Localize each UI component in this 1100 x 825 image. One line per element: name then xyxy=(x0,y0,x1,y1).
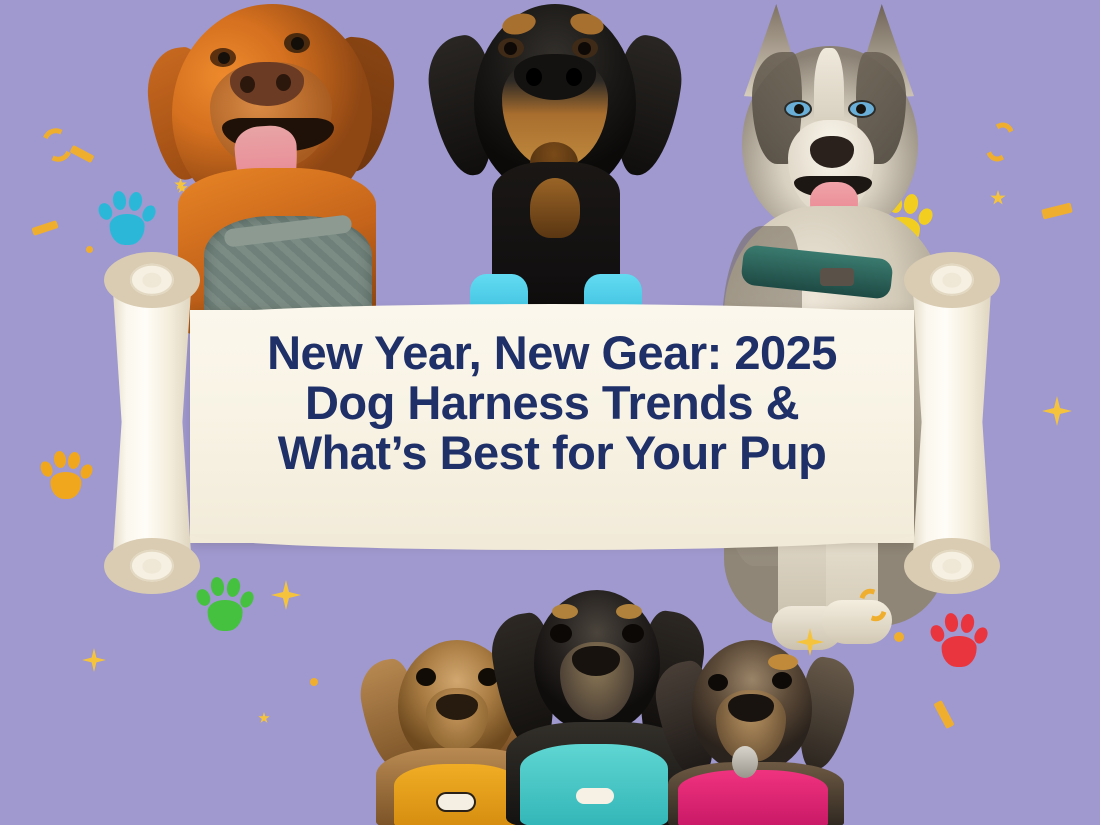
scroll-paper-bottom-curve xyxy=(190,534,914,550)
dachshund2-eye-left xyxy=(550,624,572,643)
scroll-roll-left-cap-top xyxy=(104,252,200,308)
doberman-pupil-right xyxy=(578,42,591,55)
scroll-paper-top-curve xyxy=(190,304,914,318)
dachshund3-harness xyxy=(678,770,828,825)
labrador-pupil-left xyxy=(218,52,230,64)
labrador-pupil-right xyxy=(291,37,304,50)
confetti-star-right xyxy=(990,190,1006,206)
dachshund2-harness xyxy=(520,744,668,825)
confetti-dot-bottom-left xyxy=(310,678,318,686)
poster-canvas: New Year, New Gear: 2025 Dog Harness Tre… xyxy=(0,0,1100,825)
confetti-star-bottom-left xyxy=(258,712,270,724)
dachshund2-brow-right xyxy=(616,604,642,619)
banner-title-line-3: What’s Best for Your Pup xyxy=(202,428,902,478)
dachshund3-eye-right xyxy=(772,672,792,689)
sparkle-bottom-far-icon xyxy=(82,648,106,672)
confetti-bar-bottom-right xyxy=(933,700,954,729)
scroll-roll-left xyxy=(104,250,200,594)
scroll-roll-left-body xyxy=(112,276,192,568)
doberman-nostril-left xyxy=(526,68,542,86)
dachshund1-harness-tag xyxy=(438,794,474,810)
dachshund2-harness-tag xyxy=(576,788,614,804)
husky-pupil-left xyxy=(794,104,804,114)
husky-pupil-right xyxy=(856,104,866,114)
photo-silver-dapple-dachshund-pink xyxy=(660,628,850,825)
confetti-ribbon-top-left xyxy=(37,124,77,166)
scroll-roll-right xyxy=(904,250,1000,594)
scroll-roll-left-cap-bottom xyxy=(104,538,200,594)
confetti-bar-left-1 xyxy=(70,145,95,163)
doberman-nostril-right xyxy=(566,68,582,86)
dachshund1-eye-left xyxy=(416,668,436,686)
scroll-banner: New Year, New Gear: 2025 Dog Harness Tre… xyxy=(72,248,1032,596)
confetti-ribbon-top-right xyxy=(981,119,1020,166)
banner-title-line-2: Dog Harness Trends & xyxy=(202,378,902,428)
sparkle-top-right-icon xyxy=(1042,396,1072,426)
dachshund3-brow-right xyxy=(768,654,798,670)
banner-title-line-1: New Year, New Gear: 2025 xyxy=(202,328,902,378)
scroll-roll-right-body xyxy=(912,276,992,568)
dachshund2-eye-right xyxy=(622,624,644,643)
dachshund2-brow-left xyxy=(552,604,578,619)
scroll-roll-right-cap-top xyxy=(904,252,1000,308)
labrador-nostril-left xyxy=(240,76,255,93)
doberman-pupil-left xyxy=(504,42,517,55)
dachshund3-eye-left xyxy=(708,674,728,691)
doberman-chest-tan xyxy=(530,178,580,238)
banner-title: New Year, New Gear: 2025 Dog Harness Tre… xyxy=(202,328,902,477)
confetti-bar-left-2 xyxy=(31,220,58,236)
labrador-nostril-right xyxy=(276,74,291,91)
confetti-bar-right-1 xyxy=(1041,203,1073,220)
scroll-roll-right-cap-bottom xyxy=(904,538,1000,594)
dachshund3-collar-tag xyxy=(732,746,758,778)
